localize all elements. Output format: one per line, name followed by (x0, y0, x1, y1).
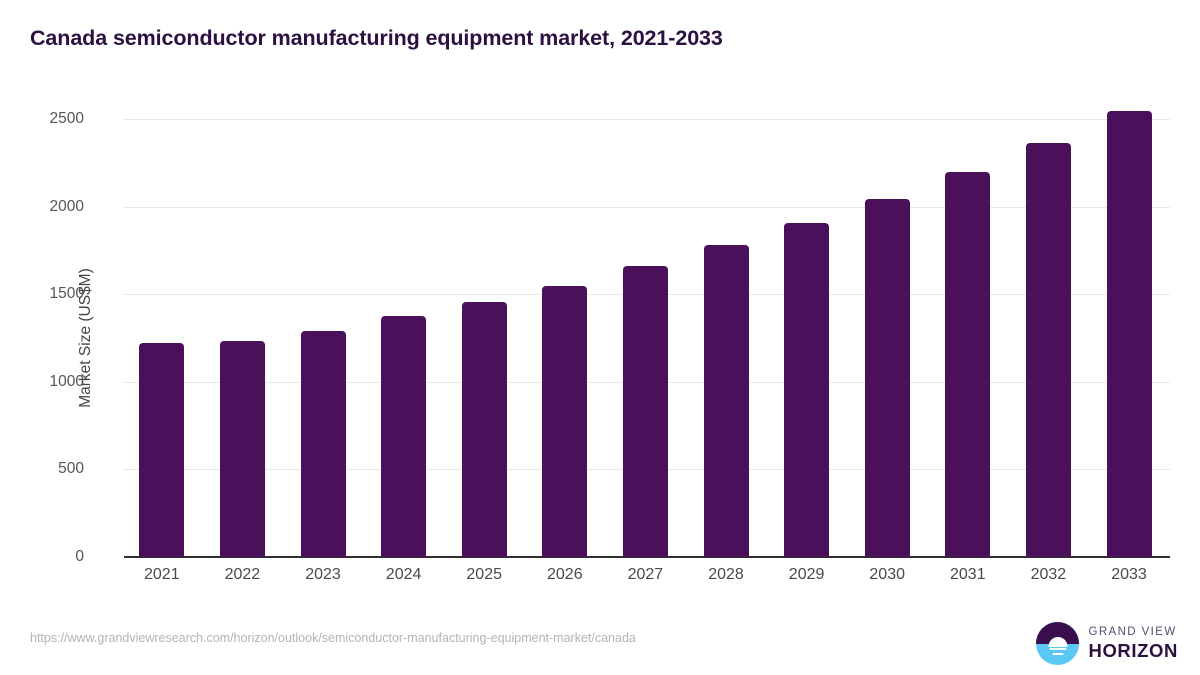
x-axis-tick-label: 2030 (842, 566, 932, 584)
x-axis-tick-label: 2027 (600, 566, 690, 584)
x-axis-tick-label: 2026 (520, 566, 610, 584)
gridline (124, 119, 1170, 120)
y-axis-tick-label: 0 (0, 548, 84, 566)
bar[interactable] (704, 245, 749, 557)
bar[interactable] (1107, 111, 1152, 557)
x-axis-tick-label: 2028 (681, 566, 771, 584)
plot-area: Market Size (US$M) 05001000150020002500 (124, 119, 1170, 557)
bar[interactable] (381, 316, 426, 557)
logo-text-bottom: HORIZON (1088, 642, 1178, 661)
logo-text-top: GRAND VIEW (1088, 627, 1178, 639)
x-axis-tick-label: 2022 (197, 566, 287, 584)
logo-line-2 (1052, 653, 1063, 656)
brand-logo: GRAND VIEW HORIZON (1036, 622, 1178, 665)
logo-text: GRAND VIEW HORIZON (1088, 627, 1178, 661)
y-axis-tick-label: 2500 (0, 110, 84, 128)
page-title: Canada semiconductor manufacturing equip… (30, 26, 723, 51)
bar[interactable] (462, 302, 507, 557)
bar[interactable] (139, 343, 184, 557)
chart-card: Canada semiconductor manufacturing equip… (0, 0, 1200, 675)
bar[interactable] (865, 199, 910, 557)
x-axis-tick-label: 2033 (1084, 566, 1174, 584)
bar[interactable] (301, 331, 346, 557)
bar[interactable] (542, 286, 587, 557)
source-url: https://www.grandviewresearch.com/horizo… (30, 631, 636, 645)
x-axis-tick-label: 2024 (359, 566, 449, 584)
x-axis-tick-label: 2031 (923, 566, 1013, 584)
x-axis-tick-label: 2029 (762, 566, 852, 584)
y-axis-tick-label: 1000 (0, 373, 84, 391)
y-axis-tick-label: 500 (0, 460, 84, 478)
bar[interactable] (784, 223, 829, 557)
x-axis-tick-label: 2021 (117, 566, 207, 584)
gridline (124, 557, 1170, 558)
x-axis-tick-label: 2023 (278, 566, 368, 584)
bar[interactable] (1026, 143, 1071, 557)
x-axis-tick-label: 2025 (439, 566, 529, 584)
y-axis-tick-label: 2000 (0, 198, 84, 216)
bar[interactable] (623, 266, 668, 557)
bar[interactable] (220, 341, 265, 557)
grand-view-horizon-logo-icon (1036, 622, 1079, 665)
gridline (124, 207, 1170, 208)
x-axis-tick-label: 2032 (1003, 566, 1093, 584)
bar[interactable] (945, 172, 990, 557)
logo-line-1 (1049, 648, 1066, 651)
y-axis-tick-label: 1500 (0, 285, 84, 303)
